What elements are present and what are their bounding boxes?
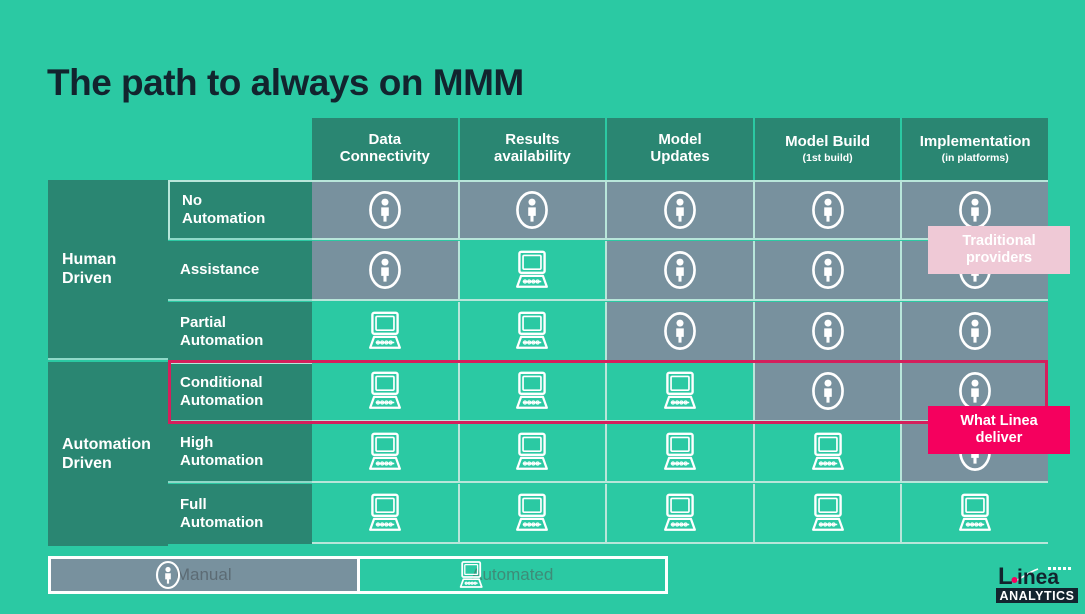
badge-line1: What Linea <box>960 413 1037 430</box>
computer-icon <box>361 492 409 534</box>
matrix-row: HighAutomation <box>168 423 1048 483</box>
column-header-results-availability: Results availability <box>460 118 608 180</box>
badge-line2: providers <box>966 250 1032 267</box>
person-icon <box>659 249 701 291</box>
header-line1: Model Build <box>785 134 870 151</box>
header-line1: Data <box>369 132 402 149</box>
matrix-row: ConditionalAutomation <box>168 362 1048 422</box>
badge-what-linea-deliver: What Linea deliver <box>928 406 1070 454</box>
computer-icon <box>656 431 704 473</box>
column-header-model-build: Model Build (1st build) <box>755 118 903 180</box>
matrix-cell-manual <box>607 180 755 240</box>
header-line2: Connectivity <box>340 149 430 166</box>
matrix-cell-manual <box>755 180 903 240</box>
automation-maturity-matrix: Data Connectivity Results availability M… <box>48 118 1048 546</box>
computer-icon <box>508 370 556 412</box>
legend-item-manual: Manual <box>51 559 357 591</box>
computer-icon <box>951 492 999 534</box>
legend-label-manual: Manual <box>176 565 232 585</box>
header-line1: Model <box>658 132 701 149</box>
matrix-cell-manual <box>312 241 460 301</box>
computer-icon <box>508 310 556 352</box>
matrix-cell-automated <box>312 302 460 362</box>
group-label-line1: Human <box>62 250 116 269</box>
column-header-data-connectivity: Data Connectivity <box>312 118 460 180</box>
person-icon <box>511 189 553 231</box>
row-label-line1: No <box>182 192 265 210</box>
person-icon <box>807 310 849 352</box>
row-label: PartialAutomation <box>168 302 312 362</box>
row-label: HighAutomation <box>168 423 312 483</box>
badge-traditional-providers: Traditional providers <box>928 226 1070 274</box>
computer-icon <box>454 560 488 590</box>
row-label-line1: Full <box>180 496 263 514</box>
matrix-cell-automated <box>755 484 903 544</box>
person-icon <box>807 249 849 291</box>
matrix-row: FullAutomation <box>168 484 1048 544</box>
matrix-row: Assistance <box>168 241 1048 301</box>
header-sub: (1st build) <box>802 153 852 165</box>
header-line2: availability <box>494 149 571 166</box>
computer-icon <box>361 431 409 473</box>
matrix-cell-automated <box>312 423 460 483</box>
svg-text:inea: inea <box>1017 566 1059 589</box>
row-label-line2: Automation <box>182 210 265 228</box>
group-label-automation-driven: Automation Driven <box>48 362 168 546</box>
matrix-cell-manual <box>902 302 1048 362</box>
row-label: Assistance <box>168 241 312 301</box>
row-label-line2: Automation <box>180 332 263 350</box>
column-header-implementation: Implementation (in platforms) <box>902 118 1048 180</box>
matrix-cell-manual <box>607 302 755 362</box>
svg-text:L: L <box>998 563 1013 590</box>
person-icon <box>807 370 849 412</box>
matrix-row: NoAutomation <box>168 180 1048 240</box>
matrix-cell-automated <box>607 484 755 544</box>
matrix-cell-manual <box>755 362 903 422</box>
matrix-cell-manual <box>755 302 903 362</box>
legend: Manual Automated <box>48 556 668 594</box>
group-label-human-driven: Human Driven <box>48 180 168 360</box>
header-sub: (in platforms) <box>942 153 1009 165</box>
computer-icon <box>804 431 852 473</box>
matrix-cell-manual <box>607 241 755 301</box>
row-label-line2: Automation <box>180 392 263 410</box>
computer-icon <box>361 370 409 412</box>
person-icon <box>659 189 701 231</box>
header-line1: Implementation <box>920 134 1031 151</box>
matrix-cell-automated <box>755 423 903 483</box>
matrix-cell-automated <box>607 423 755 483</box>
person-icon <box>153 560 183 590</box>
person-icon <box>364 189 406 231</box>
legend-item-automated: Automated <box>360 559 666 591</box>
row-label-line2: Automation <box>180 452 263 470</box>
matrix-cell-automated <box>460 302 608 362</box>
row-label: FullAutomation <box>168 484 312 544</box>
computer-icon <box>508 492 556 534</box>
matrix-cell-automated <box>607 362 755 422</box>
person-icon <box>954 189 996 231</box>
group-label-line2: Driven <box>62 269 116 288</box>
matrix-body: Human Driven Automation Driven NoAutomat… <box>48 180 1048 546</box>
person-icon <box>807 189 849 231</box>
matrix-header-row: Data Connectivity Results availability M… <box>312 118 1048 180</box>
badge-line2: deliver <box>976 430 1023 447</box>
matrix-cell-manual <box>755 241 903 301</box>
computer-icon <box>656 370 704 412</box>
row-label: ConditionalAutomation <box>168 362 312 422</box>
header-line1: Results <box>505 132 559 149</box>
matrix-cell-manual <box>460 180 608 240</box>
matrix-cell-automated <box>312 484 460 544</box>
computer-icon <box>361 310 409 352</box>
matrix-cell-automated <box>460 423 608 483</box>
computer-icon <box>804 492 852 534</box>
svg-text:ANALYTICS: ANALYTICS <box>1000 589 1075 603</box>
page-title: The path to always on MMM <box>47 62 524 104</box>
row-label-line1: Conditional <box>180 374 263 392</box>
matrix-cell-automated <box>312 362 460 422</box>
computer-icon <box>508 431 556 473</box>
person-icon <box>364 249 406 291</box>
row-label: NoAutomation <box>168 180 312 240</box>
computer-icon <box>508 249 556 291</box>
group-label-line2: Driven <box>62 454 151 473</box>
matrix-cell-automated <box>460 241 608 301</box>
computer-icon <box>656 492 704 534</box>
person-icon <box>659 310 701 352</box>
matrix-cell-manual <box>312 180 460 240</box>
matrix-cell-automated <box>902 484 1048 544</box>
header-line2: Updates <box>650 149 709 166</box>
person-icon <box>954 310 996 352</box>
row-label-line2: Automation <box>180 514 263 532</box>
column-header-model-updates: Model Updates <box>607 118 755 180</box>
badge-line1: Traditional <box>962 233 1035 250</box>
row-label-line1: Partial <box>180 314 263 332</box>
group-label-line1: Automation <box>62 435 151 454</box>
row-label-line1: High <box>180 434 263 452</box>
row-label-line1: Assistance <box>180 261 259 279</box>
matrix-cell-automated <box>460 484 608 544</box>
matrix-row: PartialAutomation <box>168 302 1048 362</box>
matrix-cell-automated <box>460 362 608 422</box>
linea-analytics-logo: L inea ANALYTICS <box>996 559 1078 607</box>
